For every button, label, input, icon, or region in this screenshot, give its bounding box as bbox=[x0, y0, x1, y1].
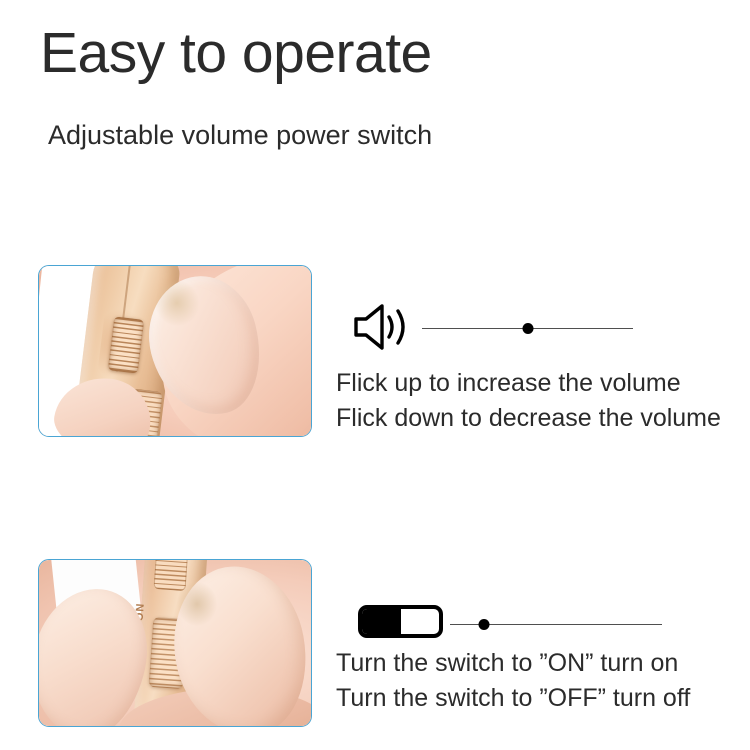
photo-power: ON OFF bbox=[39, 560, 311, 726]
caption-line: Flick up to increase the volume bbox=[336, 366, 736, 401]
caption-line: Flick down to decrease the volume bbox=[336, 401, 736, 436]
page-subtitle: Adjustable volume power switch bbox=[48, 118, 432, 152]
caption-line: Turn the switch to ”OFF” turn off bbox=[336, 681, 736, 716]
right-fingernail-tip bbox=[177, 582, 217, 626]
power-captions: Turn the switch to ”ON” turn on Turn the… bbox=[336, 646, 736, 716]
feature-row-volume: ON Flick up to increase the volume Flick… bbox=[0, 258, 750, 448]
speaker-volume-icon bbox=[352, 302, 416, 352]
photo-card-power: ON OFF bbox=[38, 559, 312, 727]
slider-thumb[interactable] bbox=[478, 619, 489, 630]
toggle-switch-icon[interactable] bbox=[358, 605, 443, 638]
volume-captions: Flick up to increase the volume Flick do… bbox=[336, 366, 736, 436]
power-slider[interactable] bbox=[450, 618, 662, 632]
caption-line: Turn the switch to ”ON” turn on bbox=[336, 646, 736, 681]
slider-thumb[interactable] bbox=[522, 323, 533, 334]
power-icon-slot bbox=[356, 598, 452, 648]
page-title: Easy to operate bbox=[40, 18, 432, 88]
volume-slider[interactable] bbox=[422, 322, 633, 336]
photo-card-volume: ON bbox=[38, 265, 312, 437]
feature-row-power: ON OFF Turn the switch to ”ON” turn on T… bbox=[0, 552, 750, 742]
photo-volume: ON bbox=[39, 266, 311, 436]
